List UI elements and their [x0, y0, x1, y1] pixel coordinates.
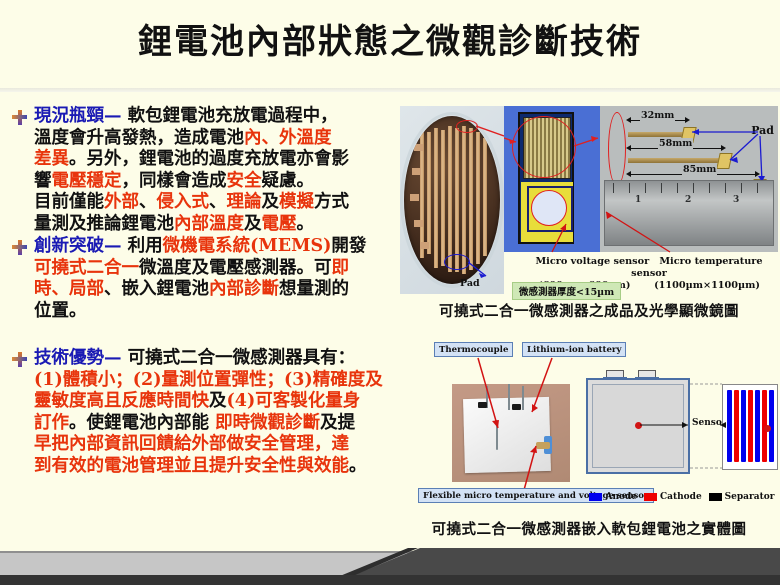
block-text: 、: [209, 192, 227, 212]
cathode-layer: [748, 390, 753, 462]
block-text: 。: [349, 456, 367, 476]
sensor-microscope-panel: [504, 106, 600, 252]
block-text: 方式: [314, 192, 349, 212]
block-emphasis: 理論: [227, 192, 262, 212]
block-text: 響: [34, 171, 52, 191]
electrode-stack-zoom: [722, 384, 778, 470]
dim-arrow-left: [626, 171, 631, 177]
text-block-innovation-breakthrough: 創新突破— 利用微機電系統(MEMS)開發 可撓式二合一微溫度及電壓感測器。可即…: [34, 236, 406, 322]
figure-top-caption: 可撓式二合一微感測器之成品及光學顯微鏡圖: [400, 300, 778, 321]
bullet-plus-icon: [12, 110, 27, 125]
block-emphasis: 外部: [104, 192, 139, 212]
dim-arrow-right: [721, 145, 726, 151]
legend-item-separator: Separator: [709, 492, 775, 502]
block-text: 軟包鋰電池充放電過程中，: [128, 106, 338, 126]
title-zone: 鋰電池內部狀態之微觀診斷技術: [0, 0, 780, 90]
dim-label-32mm: 32mm: [640, 110, 675, 121]
block-emphasis: 電壓穩定: [52, 171, 122, 191]
block-text: 及: [262, 192, 280, 212]
title-divider: [0, 88, 780, 92]
block-text: 位置。: [34, 301, 87, 321]
dim-arrow-left: [626, 145, 631, 151]
legend-item-anode: Anode: [589, 492, 637, 502]
block-text: 可撓式二合一微感測器具有：: [128, 348, 356, 368]
block-emphasis: 內部診斷: [209, 279, 279, 299]
cathode-swatch: [644, 493, 657, 501]
footer-decoration: [0, 548, 780, 585]
legend-label: Anode: [605, 492, 637, 502]
block-emphasis: 模擬: [279, 192, 314, 212]
bullet-plus-icon: [12, 240, 27, 255]
block-text: 溫度會升高發熱，造成電池: [34, 128, 244, 148]
legend-label: Separator: [725, 492, 775, 502]
block-emphasis: 微機電系統(MEMS): [163, 236, 332, 256]
block-emphasis: 內部溫度: [174, 214, 244, 234]
ruler-number: 1: [635, 195, 641, 205]
red-alignment-ellipse: [608, 112, 626, 186]
pouch-cell-photo: [452, 384, 570, 482]
block-text: ，同樣會造成: [122, 171, 227, 191]
block-text: 、嵌入鋰電池: [104, 279, 209, 299]
pouch-cell-body: [463, 397, 551, 473]
figure-sensor-product: Pad: [400, 106, 778, 294]
sensor-point-right: [764, 425, 771, 432]
electrode-legend: Anode Cathode Separator: [586, 492, 778, 502]
anode-layer: [727, 390, 732, 462]
anode-swatch: [589, 493, 602, 501]
block-text: 目前僅能: [34, 192, 104, 212]
block-text: 量測及推論鋰電池: [34, 214, 174, 234]
block-text: 及提: [320, 413, 355, 433]
anode-layer: [741, 390, 746, 462]
thickness-badge: 微感測器厚度<15µm: [512, 282, 621, 300]
probe-pad-label: Pad: [751, 124, 774, 137]
block-emphasis: 差異: [34, 149, 69, 169]
dim-arrow-right: [685, 117, 690, 123]
voltage-sensor-pad: [531, 190, 567, 226]
block-emphasis: 訂作: [34, 413, 69, 433]
ruler-scale: 1 2 3: [604, 180, 774, 246]
ruler-number: 2: [685, 195, 691, 205]
block-emphasis: 安全: [227, 171, 262, 191]
cathode-layer: [734, 390, 739, 462]
block-emphasis: 電壓: [262, 214, 297, 234]
block-text: 利用: [128, 236, 163, 256]
block-text: 開發: [331, 236, 366, 256]
red-highlight-ellipse: [512, 116, 576, 178]
dim-arrow-left: [626, 117, 631, 123]
block-text: 。另外，鋰電池的過度充放電亦會影: [69, 149, 349, 169]
sensor-lead: [536, 442, 550, 449]
block-text: 及: [244, 214, 262, 234]
block-emphasis: 時、局部: [34, 279, 104, 299]
block-emphasis: (4)可客製化量身: [227, 391, 361, 411]
block-emphasis: 可撓式二合一: [34, 258, 139, 278]
block-dash: —: [104, 236, 128, 256]
block-emphasis: 靈敏度高且反應時間快: [34, 391, 209, 411]
block-dash: —: [104, 106, 128, 126]
ruler-number: 3: [733, 195, 739, 205]
probe-dimension-photo: 32mm 58mm 85mm Pad: [600, 106, 778, 252]
lithium-ion-battery-label: Lithium-ion battery: [522, 342, 626, 357]
wafer-pad-label: Pad: [460, 278, 480, 289]
block-emphasis: (1)體積小；(2)量測位置彈性；(3)精確度及: [34, 370, 383, 390]
dim-arrow-right: [755, 171, 760, 177]
page-title: 鋰電池內部狀態之微觀診斷技術: [0, 14, 780, 63]
thermocouple-label: Thermocouple: [434, 342, 513, 357]
dim-label-85mm: 85mm: [682, 164, 717, 175]
block-heading: 技術優勢: [34, 348, 104, 368]
figure-bottom-caption: 可撓式二合一微感測器嵌入軟包鋰電池之實體圖: [400, 518, 778, 539]
micro-voltage-sensor-label: Micro voltage sensor: [535, 256, 649, 267]
battery-schematic: Sensor: [580, 364, 778, 482]
block-emphasis: 即時微觀診斷: [215, 413, 320, 433]
anode-layer: [755, 390, 760, 462]
block-emphasis: 內、外溫度: [244, 128, 332, 148]
dim-label-58mm: 58mm: [658, 138, 693, 149]
footer-bottom-edge: [0, 575, 780, 585]
block-text: 及: [209, 391, 227, 411]
probe-pad-58mm: [716, 153, 732, 169]
micro-temperature-sensor-label: Micro temperature sensor: [631, 256, 762, 279]
text-block-current-bottleneck: 現況瓶頸— 軟包鋰電池充放電過程中， 溫度會升高發熱，造成電池內、外溫度 差異。…: [34, 106, 406, 235]
figure-sensor-embedded: Thermocouple Lithium-ion battery Flexibl…: [412, 342, 778, 512]
text-block-technical-advantage: 技術優勢— 可撓式二合一微感測器具有： (1)體積小；(2)量測位置彈性；(3)…: [34, 348, 414, 477]
micro-temperature-sensor-size: (1100µm×1100µm): [654, 280, 760, 291]
block-heading: 創新突破: [34, 236, 104, 256]
probe-strip-32mm: [628, 132, 684, 137]
bullet-plus-icon: [12, 352, 27, 367]
separator-swatch: [709, 493, 722, 501]
probe-strip-58mm: [628, 158, 720, 163]
sensor-point-left: [635, 422, 642, 429]
block-text: 疑慮。: [262, 171, 315, 191]
block-text: 。: [297, 214, 315, 234]
legend-label: Cathode: [660, 492, 702, 502]
block-heading: 現況瓶頸: [34, 106, 104, 126]
block-emphasis: 即: [332, 258, 350, 278]
block-text: 微溫度及電壓感測器。可: [139, 258, 332, 278]
block-text: 想量測的: [279, 279, 349, 299]
block-emphasis: 早把內部資訊回饋給外部做安全管理，達: [34, 434, 349, 454]
block-text: 、: [139, 192, 157, 212]
wafer-red-highlight-circle: [456, 120, 478, 133]
wafer-photo: Pad: [400, 106, 504, 294]
legend-item-cathode: Cathode: [644, 492, 702, 502]
slide-root: 鋰電池內部狀態之微觀診斷技術 現況瓶頸— 軟包鋰電池充放電過程中， 溫度會升高發…: [0, 0, 780, 585]
wafer-blue-pad-circle: [444, 254, 470, 270]
block-emphasis: 侵入式: [157, 192, 210, 212]
block-dash: —: [104, 348, 128, 368]
block-emphasis: 到有效的電池管理並且提升安全性與效能: [34, 456, 349, 476]
voltage-sensor-area: [521, 182, 573, 242]
block-text: 。使鋰電池內部能: [69, 413, 215, 433]
